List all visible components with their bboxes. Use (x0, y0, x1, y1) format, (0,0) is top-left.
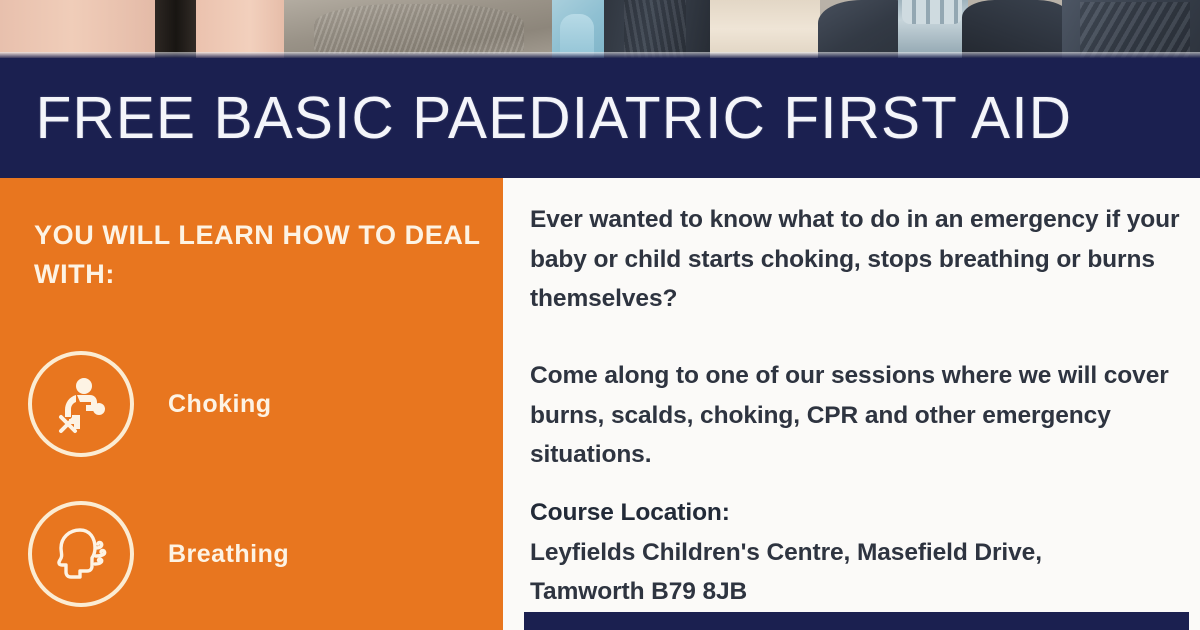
photo-region-jeans-4 (1062, 0, 1200, 58)
list-item-label: Choking (168, 390, 272, 419)
bottom-navy-bar (524, 612, 1189, 630)
photo-region-jeans-3 (962, 0, 1070, 58)
photo-region-toes (898, 0, 968, 58)
photo-region-skin-2 (196, 0, 286, 58)
course-location-block: Course Location: Leyfields Children's Ce… (530, 493, 1185, 612)
course-location-line-1: Leyfields Children's Centre, Masefield D… (530, 533, 1185, 573)
learn-heading: YOU WILL LEARN HOW TO DEAL WITH: (34, 216, 484, 294)
photo-region-jeans-1 (604, 0, 714, 58)
intro-paragraph: Ever wanted to know what to do in an eme… (530, 200, 1185, 319)
list-item-label: Breathing (168, 540, 289, 569)
course-location-line-2: Tamworth B79 8JB (530, 572, 1185, 612)
photo-region-skin (0, 0, 160, 58)
poster-title: FREE BASIC PAEDIATRIC FIRST AID (0, 84, 1072, 152)
left-orange-panel: YOU WILL LEARN HOW TO DEAL WITH: (0, 178, 503, 630)
sessions-paragraph: Come along to one of our sessions where … (530, 356, 1185, 475)
title-banner: FREE BASIC PAEDIATRIC FIRST AID (0, 58, 1200, 178)
right-content-panel: Ever wanted to know what to do in an eme… (503, 178, 1200, 630)
list-item: Breathing (28, 501, 289, 607)
header-photo-strip (0, 0, 1200, 58)
choking-icon (28, 351, 134, 457)
poster-root: FREE BASIC PAEDIATRIC FIRST AID YOU WILL… (0, 0, 1200, 630)
photo-region-dark-leg (155, 0, 197, 58)
breathing-head-icon (28, 501, 134, 607)
course-location-title: Course Location: (530, 493, 1185, 533)
photo-region-floor (710, 0, 820, 58)
photo-region-blue-glove (552, 0, 608, 58)
photo-region-grey-cushion (284, 0, 556, 58)
list-item: Choking (28, 351, 272, 457)
